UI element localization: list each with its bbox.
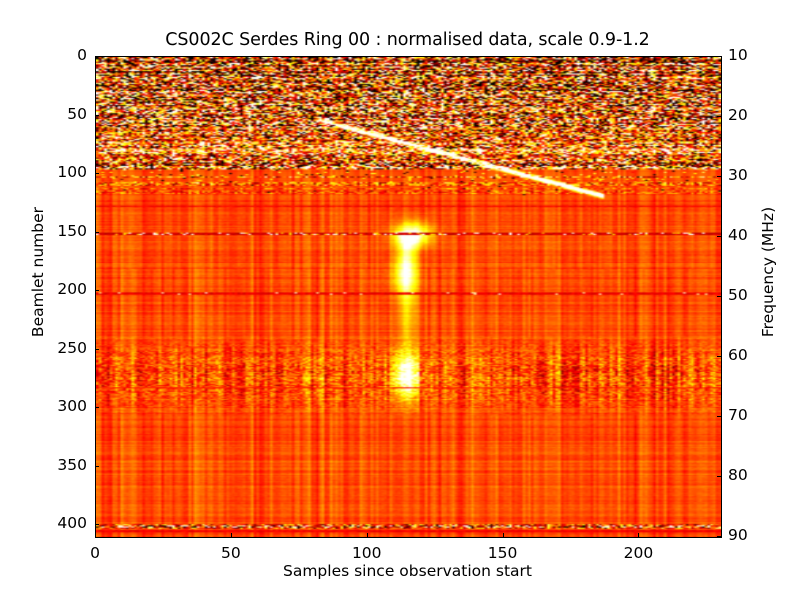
y-axis-label-left: Beamlet number (29, 172, 47, 372)
x-ticklabel: 200 (608, 544, 668, 562)
y-tick-right (717, 56, 721, 57)
y-ticklabel-right: 30 (728, 166, 788, 184)
y-tick-left (95, 524, 99, 525)
y-ticklabel-right: 80 (728, 466, 788, 484)
page-title: CS002C Serdes Ring 00 : normalised data,… (95, 30, 720, 50)
y-tick-right (717, 356, 721, 357)
x-tick (638, 533, 639, 537)
x-tick (367, 533, 368, 537)
y-tick-left (95, 290, 99, 291)
figure-canvas: CS002C Serdes Ring 00 : normalised data,… (0, 0, 800, 600)
x-ticklabel: 0 (65, 544, 125, 562)
x-tick (95, 533, 96, 537)
y-tick-left (95, 466, 99, 467)
y-tick-right (717, 476, 721, 477)
y-tick-right (717, 116, 721, 117)
y-ticklabel-left: 350 (27, 456, 87, 474)
y-axis-label-right: Frequency (MHz) (759, 172, 777, 372)
y-ticklabel-right: 50 (728, 286, 788, 304)
y-ticklabel-right: 20 (728, 106, 788, 124)
x-ticklabel: 50 (201, 544, 261, 562)
x-axis-label: Samples since observation start (95, 562, 720, 580)
y-ticklabel-left: 50 (27, 105, 87, 123)
y-tick-right (717, 236, 721, 237)
y-tick-right (717, 416, 721, 417)
x-tick (231, 533, 232, 537)
x-ticklabel: 100 (337, 544, 397, 562)
y-ticklabel-right: 10 (728, 46, 788, 64)
x-tick (503, 533, 504, 537)
y-tick-right (717, 176, 721, 177)
heatmap-image (96, 57, 721, 537)
y-ticklabel-right: 90 (728, 526, 788, 544)
heatmap-plot-area[interactable] (95, 56, 722, 538)
y-tick-left (95, 232, 99, 233)
y-tick-left (95, 349, 99, 350)
y-ticklabel-right: 70 (728, 406, 788, 424)
y-tick-left (95, 115, 99, 116)
y-ticklabel-right: 60 (728, 346, 788, 364)
x-ticklabel: 150 (473, 544, 533, 562)
y-tick-left (95, 56, 99, 57)
y-ticklabel-right: 40 (728, 226, 788, 244)
y-tick-right (717, 296, 721, 297)
y-tick-right (717, 536, 721, 537)
y-tick-left (95, 173, 99, 174)
y-tick-left (95, 407, 99, 408)
y-ticklabel-left: 300 (27, 397, 87, 415)
y-ticklabel-left: 0 (27, 46, 87, 64)
y-ticklabel-left: 400 (27, 514, 87, 532)
